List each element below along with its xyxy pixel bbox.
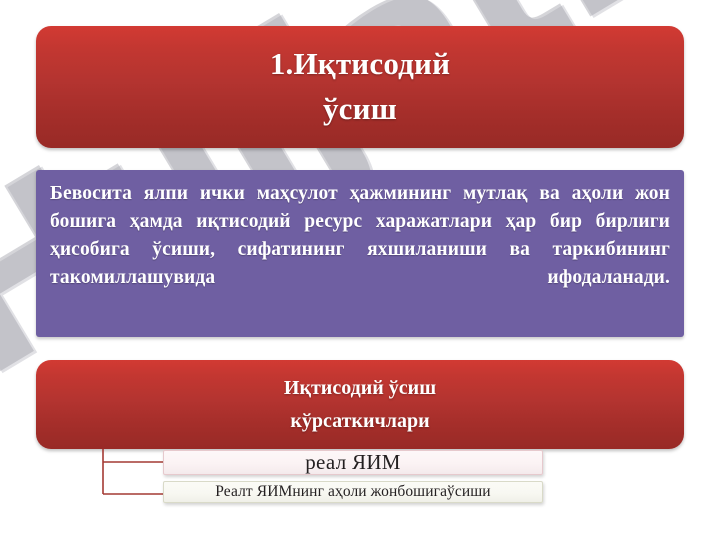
indicator-label-real-gdp-per-capita: Реалт ЯИМнинг аҳоли жонбошигаўсиши: [215, 483, 490, 501]
indicators-title-line-2: кўрсаткичлари: [284, 405, 436, 438]
page-title-line-2: ўсиш: [270, 87, 450, 132]
title-panel: 1.Иқтисодий ўсиш: [36, 26, 684, 148]
indicators-title-line-1: Иқтисодий ўсиш: [284, 372, 436, 405]
indicators-panel: Иқтисодий ўсиш кўрсаткичлари: [36, 360, 684, 449]
indicator-box-real-gdp[interactable]: реал ЯИМ: [163, 450, 543, 475]
page-title: 1.Иқтисодий ўсиш: [246, 42, 474, 132]
slide-canvas: Hujjat24 1.Иқтисодий ўсиш Бевосита ялпи …: [0, 0, 720, 540]
indicator-label-real-gdp: реал ЯИМ: [305, 450, 401, 475]
indicators-title: Иқтисодий ўсиш кўрсаткичлари: [264, 372, 456, 438]
definition-panel: Бевосита ялпи ички маҳсулот ҳажмининг му…: [36, 170, 684, 337]
definition-text: Бевосита ялпи ички маҳсулот ҳажмининг му…: [50, 180, 670, 292]
page-title-line-1: 1.Иқтисодий: [270, 42, 450, 87]
indicator-box-real-gdp-per-capita[interactable]: Реалт ЯИМнинг аҳоли жонбошигаўсиши: [163, 481, 543, 503]
